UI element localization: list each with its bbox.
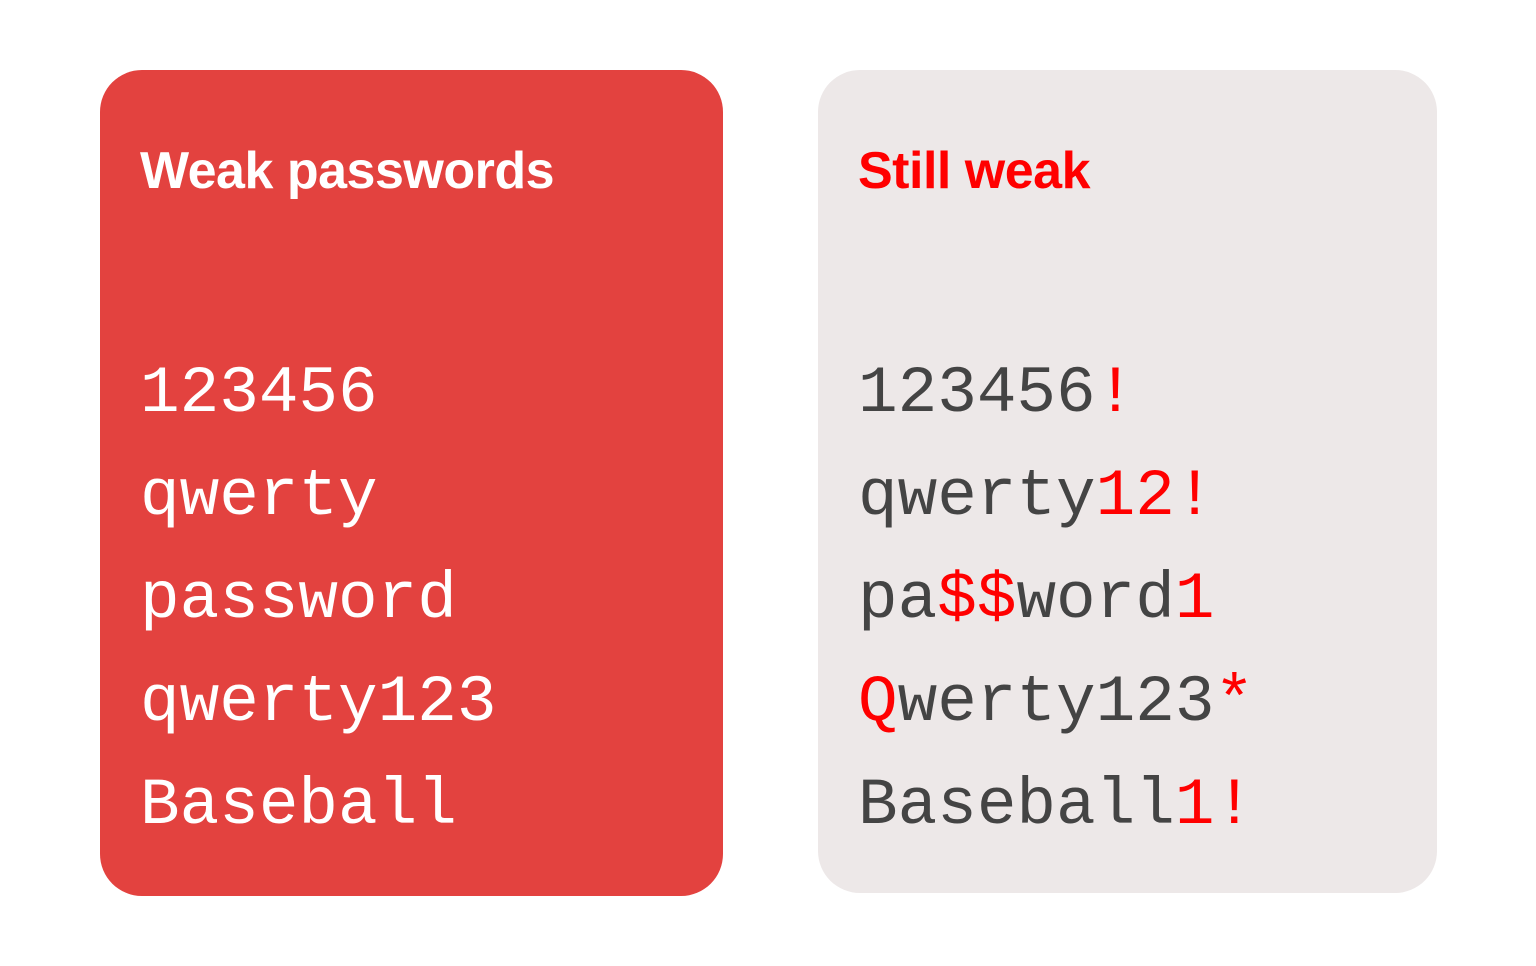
still-weak-passwords-list: 123456!qwerty12!pa$$word1Qwerty123*Baseb… (858, 342, 1254, 857)
password-base-segment: qwerty123 (140, 665, 496, 740)
weak-passwords-card: Weak passwords 123456qwertypasswordqwert… (100, 70, 723, 896)
password-list-item: 123456 (140, 342, 496, 445)
password-base-segment: qwerty (858, 459, 1096, 534)
weak-passwords-list: 123456qwertypasswordqwerty123Baseball (140, 342, 496, 857)
password-accent-segment: ! (1096, 356, 1136, 431)
password-list-item: Qwerty123* (858, 651, 1254, 754)
comparison-graphic: Weak passwords 123456qwertypasswordqwert… (0, 0, 1536, 966)
password-accent-segment: 1 (1175, 562, 1215, 637)
password-base-segment: password (140, 562, 457, 637)
password-accent-segment: Q (858, 665, 898, 740)
weak-passwords-card-title: Weak passwords (140, 142, 554, 200)
password-base-segment: qwerty (140, 459, 378, 534)
still-weak-card-title: Still weak (858, 142, 1090, 200)
password-list-item: 123456! (858, 342, 1254, 445)
password-base-segment: pa (858, 562, 937, 637)
password-list-item: Baseball (140, 754, 496, 857)
still-weak-card: Still weak 123456!qwerty12!pa$$word1Qwer… (818, 70, 1437, 893)
password-list-item: qwerty12! (858, 445, 1254, 548)
password-list-item: qwerty (140, 445, 496, 548)
password-accent-segment: * (1214, 665, 1254, 740)
password-list-item: password (140, 548, 496, 651)
password-accent-segment: 1! (1175, 768, 1254, 843)
password-base-segment: 123456 (858, 356, 1096, 431)
password-base-segment: 123456 (140, 356, 378, 431)
password-list-item: pa$$word1 (858, 548, 1254, 651)
password-accent-segment: $$ (937, 562, 1016, 637)
password-list-item: qwerty123 (140, 651, 496, 754)
password-list-item: Baseball1! (858, 754, 1254, 857)
password-accent-segment: 12! (1096, 459, 1215, 534)
password-base-segment: Baseball (140, 768, 457, 843)
password-base-segment: Baseball (858, 768, 1175, 843)
password-base-segment: word (1016, 562, 1174, 637)
password-base-segment: werty123 (898, 665, 1215, 740)
